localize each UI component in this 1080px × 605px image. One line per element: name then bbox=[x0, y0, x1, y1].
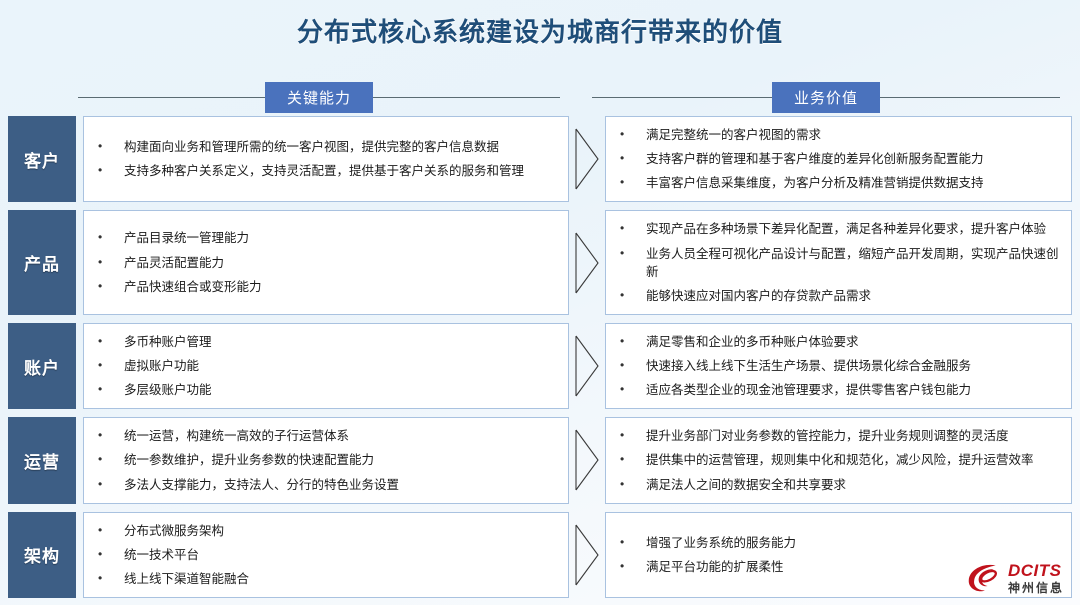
matrix-row: 账户•多币种账户管理•虚拟账户功能•多层级账户功能•满足零售和企业的多币种账户体… bbox=[8, 323, 1072, 409]
bullet-dot-icon: • bbox=[92, 427, 124, 444]
list-item-text: 多法人支撑能力，支持法人、分行的特色业务设置 bbox=[124, 476, 558, 494]
header-rule-right bbox=[880, 97, 1060, 98]
capabilities-box: •多币种账户管理•虚拟账户功能•多层级账户功能 bbox=[83, 323, 569, 409]
bullet-dot-icon: • bbox=[92, 278, 124, 295]
list-item-text: 满足零售和企业的多币种账户体验要求 bbox=[646, 333, 1061, 351]
bullet-dot-icon: • bbox=[614, 357, 646, 374]
matrix-row: 运营•统一运营，构建统一高效的子行运营体系•统一参数维护，提升业务参数的快速配置… bbox=[8, 417, 1072, 503]
bullet-dot-icon: • bbox=[92, 162, 124, 179]
list-item: •多法人支撑能力，支持法人、分行的特色业务设置 bbox=[92, 473, 558, 497]
list-item: •虚拟账户功能 bbox=[92, 354, 558, 378]
column-header-capabilities: 关键能力 bbox=[78, 80, 560, 114]
list-item-text: 满足法人之间的数据安全和共享要求 bbox=[646, 476, 1061, 494]
chevron-right-icon bbox=[569, 417, 605, 503]
bullet-dot-icon: • bbox=[614, 534, 646, 551]
row-label-1: 产品 bbox=[8, 210, 76, 315]
list-item-text: 统一运营，构建统一高效的子行运营体系 bbox=[124, 427, 558, 445]
list-item: •统一技术平台 bbox=[92, 543, 558, 567]
bullet-dot-icon: • bbox=[92, 357, 124, 374]
chevron-right-icon bbox=[569, 116, 605, 202]
list-item: •适应各类型企业的现金池管理要求，提供零售客户钱包能力 bbox=[614, 378, 1061, 402]
header-chip-capabilities: 关键能力 bbox=[265, 82, 373, 113]
list-item: •业务人员全程可视化产品设计与配置，缩短产品开发周期，实现产品快速创新 bbox=[614, 242, 1061, 284]
values-box: •满足零售和企业的多币种账户体验要求•快速接入线上线下生活生产场景、提供场景化综… bbox=[605, 323, 1072, 409]
list-item-text: 支持多种客户关系定义，支持灵活配置，提供基于客户关系的服务和管理 bbox=[124, 162, 558, 180]
capabilities-box: •产品目录统一管理能力•产品灵活配置能力•产品快速组合或变形能力 bbox=[83, 210, 569, 315]
list-item: •分布式微服务架构 bbox=[92, 519, 558, 543]
row-label-0: 客户 bbox=[8, 116, 76, 202]
column-header-values: 业务价值 bbox=[592, 80, 1060, 114]
list-item-text: 分布式微服务架构 bbox=[124, 522, 558, 540]
list-item: •产品目录统一管理能力 bbox=[92, 226, 558, 250]
logo-wordmark: DCITS 神州信息 bbox=[1008, 562, 1064, 594]
capabilities-box: •构建面向业务和管理所需的统一客户视图，提供完整的客户信息数据•支持多种客户关系… bbox=[83, 116, 569, 202]
bullet-dot-icon: • bbox=[92, 254, 124, 271]
list-item: •多币种账户管理 bbox=[92, 330, 558, 354]
list-item-text: 丰富客户信息采集维度，为客户分析及精准营销提供数据支持 bbox=[646, 174, 1061, 192]
row-label-4: 架构 bbox=[8, 512, 76, 598]
list-item: •快速接入线上线下生活生产场景、提供场景化综合金融服务 bbox=[614, 354, 1061, 378]
list-item-text: 适应各类型企业的现金池管理要求，提供零售客户钱包能力 bbox=[646, 381, 1061, 399]
list-item-text: 能够快速应对国内客户的存贷款产品需求 bbox=[646, 287, 1061, 305]
bullet-dot-icon: • bbox=[614, 558, 646, 575]
bullet-dot-icon: • bbox=[92, 381, 124, 398]
list-item-text: 多层级账户功能 bbox=[124, 381, 558, 399]
bullet-dot-icon: • bbox=[614, 333, 646, 350]
list-item-text: 提供集中的运营管理，规则集中化和规范化，减少风险，提升运营效率 bbox=[646, 451, 1061, 469]
chevron-right-icon bbox=[569, 323, 605, 409]
bullet-dot-icon: • bbox=[614, 174, 646, 191]
list-item-text: 业务人员全程可视化产品设计与配置，缩短产品开发周期，实现产品快速创新 bbox=[646, 245, 1061, 281]
list-item: •满足法人之间的数据安全和共享要求 bbox=[614, 473, 1061, 497]
bullet-dot-icon: • bbox=[614, 287, 646, 304]
bullet-dot-icon: • bbox=[614, 427, 646, 444]
list-item: •构建面向业务和管理所需的统一客户视图，提供完整的客户信息数据 bbox=[92, 135, 558, 159]
list-item: •增强了业务系统的服务能力 bbox=[614, 531, 1061, 555]
list-item-text: 快速接入线上线下生活生产场景、提供场景化综合金融服务 bbox=[646, 357, 1061, 375]
list-item: •满足零售和企业的多币种账户体验要求 bbox=[614, 330, 1061, 354]
bullet-dot-icon: • bbox=[614, 220, 646, 237]
chevron-right-icon bbox=[569, 512, 605, 598]
list-item: •线上线下渠道智能融合 bbox=[92, 567, 558, 591]
bullet-dot-icon: • bbox=[92, 570, 124, 587]
bullet-dot-icon: • bbox=[92, 229, 124, 246]
list-item: •产品灵活配置能力 bbox=[92, 251, 558, 275]
values-box: •实现产品在多种场景下差异化配置，满足各种差异化要求，提升客户体验•业务人员全程… bbox=[605, 210, 1072, 315]
row-label-2: 账户 bbox=[8, 323, 76, 409]
bullet-dot-icon: • bbox=[614, 381, 646, 398]
list-item-text: 构建面向业务和管理所需的统一客户视图，提供完整的客户信息数据 bbox=[124, 138, 558, 156]
list-item: •统一运营，构建统一高效的子行运营体系 bbox=[92, 424, 558, 448]
header-rule-right bbox=[373, 97, 560, 98]
bullet-dot-icon: • bbox=[614, 245, 646, 262]
bullet-dot-icon: • bbox=[614, 451, 646, 468]
list-item-text: 线上线下渠道智能融合 bbox=[124, 570, 558, 588]
list-item: •提供集中的运营管理，规则集中化和规范化，减少风险，提升运营效率 bbox=[614, 448, 1061, 472]
matrix-row: 产品•产品目录统一管理能力•产品灵活配置能力•产品快速组合或变形能力•实现产品在… bbox=[8, 210, 1072, 315]
list-item-text: 支持客户群的管理和基于客户维度的差异化创新服务配置能力 bbox=[646, 150, 1061, 168]
list-item-text: 增强了业务系统的服务能力 bbox=[646, 534, 1061, 552]
bullet-dot-icon: • bbox=[614, 150, 646, 167]
bullet-dot-icon: • bbox=[92, 451, 124, 468]
list-item-text: 产品灵活配置能力 bbox=[124, 254, 558, 272]
bullet-dot-icon: • bbox=[92, 138, 124, 155]
brand-logo: DCITS 神州信息 bbox=[966, 561, 1064, 595]
list-item: •支持客户群的管理和基于客户维度的差异化创新服务配置能力 bbox=[614, 147, 1061, 171]
values-box: •满足完整统一的客户视图的需求•支持客户群的管理和基于客户维度的差异化创新服务配… bbox=[605, 116, 1072, 202]
header-rule-left bbox=[78, 97, 265, 98]
column-headers: 关键能力 业务价值 bbox=[0, 80, 1080, 114]
bullet-dot-icon: • bbox=[92, 522, 124, 539]
capabilities-box: •统一运营，构建统一高效的子行运营体系•统一参数维护，提升业务参数的快速配置能力… bbox=[83, 417, 569, 503]
list-item-text: 满足完整统一的客户视图的需求 bbox=[646, 126, 1061, 144]
logo-name-cn: 神州信息 bbox=[1008, 582, 1064, 594]
values-box: •提升业务部门对业务参数的管控能力，提升业务规则调整的灵活度•提供集中的运营管理… bbox=[605, 417, 1072, 503]
list-item: •多层级账户功能 bbox=[92, 378, 558, 402]
bullet-dot-icon: • bbox=[92, 333, 124, 350]
matrix-rows: 客户•构建面向业务和管理所需的统一客户视图，提供完整的客户信息数据•支持多种客户… bbox=[8, 116, 1072, 598]
list-item: •提升业务部门对业务参数的管控能力，提升业务规则调整的灵活度 bbox=[614, 424, 1061, 448]
matrix-row: 架构•分布式微服务架构•统一技术平台•线上线下渠道智能融合•增强了业务系统的服务… bbox=[8, 512, 1072, 598]
row-label-3: 运营 bbox=[8, 417, 76, 503]
logo-name-en: DCITS bbox=[1008, 562, 1064, 579]
list-item: •支持多种客户关系定义，支持灵活配置，提供基于客户关系的服务和管理 bbox=[92, 159, 558, 183]
list-item-text: 多币种账户管理 bbox=[124, 333, 558, 351]
header-rule-left bbox=[592, 97, 772, 98]
list-item-text: 统一技术平台 bbox=[124, 546, 558, 564]
bullet-dot-icon: • bbox=[614, 126, 646, 143]
list-item: •丰富客户信息采集维度，为客户分析及精准营销提供数据支持 bbox=[614, 171, 1061, 195]
list-item-text: 统一参数维护，提升业务参数的快速配置能力 bbox=[124, 451, 558, 469]
list-item-text: 产品快速组合或变形能力 bbox=[124, 278, 558, 296]
list-item: •产品快速组合或变形能力 bbox=[92, 275, 558, 299]
list-item-text: 虚拟账户功能 bbox=[124, 357, 558, 375]
slide-root: 分布式核心系统建设为城商行带来的价值 关键能力 业务价值 客户•构建面向业务和管… bbox=[0, 0, 1080, 605]
list-item: •满足完整统一的客户视图的需求 bbox=[614, 123, 1061, 147]
header-chip-values: 业务价值 bbox=[772, 82, 880, 113]
dcits-swirl-icon bbox=[966, 561, 1002, 595]
list-item-text: 实现产品在多种场景下差异化配置，满足各种差异化要求，提升客户体验 bbox=[646, 220, 1061, 238]
bullet-dot-icon: • bbox=[92, 476, 124, 493]
page-title: 分布式核心系统建设为城商行带来的价值 bbox=[0, 12, 1080, 49]
list-item-text: 产品目录统一管理能力 bbox=[124, 229, 558, 247]
list-item: •实现产品在多种场景下差异化配置，满足各种差异化要求，提升客户体验 bbox=[614, 217, 1061, 241]
capabilities-box: •分布式微服务架构•统一技术平台•线上线下渠道智能融合 bbox=[83, 512, 569, 598]
list-item-text: 提升业务部门对业务参数的管控能力，提升业务规则调整的灵活度 bbox=[646, 427, 1061, 445]
list-item: •统一参数维护，提升业务参数的快速配置能力 bbox=[92, 448, 558, 472]
chevron-right-icon bbox=[569, 210, 605, 315]
bullet-dot-icon: • bbox=[614, 476, 646, 493]
list-item: •能够快速应对国内客户的存贷款产品需求 bbox=[614, 284, 1061, 308]
bullet-dot-icon: • bbox=[92, 546, 124, 563]
matrix-row: 客户•构建面向业务和管理所需的统一客户视图，提供完整的客户信息数据•支持多种客户… bbox=[8, 116, 1072, 202]
